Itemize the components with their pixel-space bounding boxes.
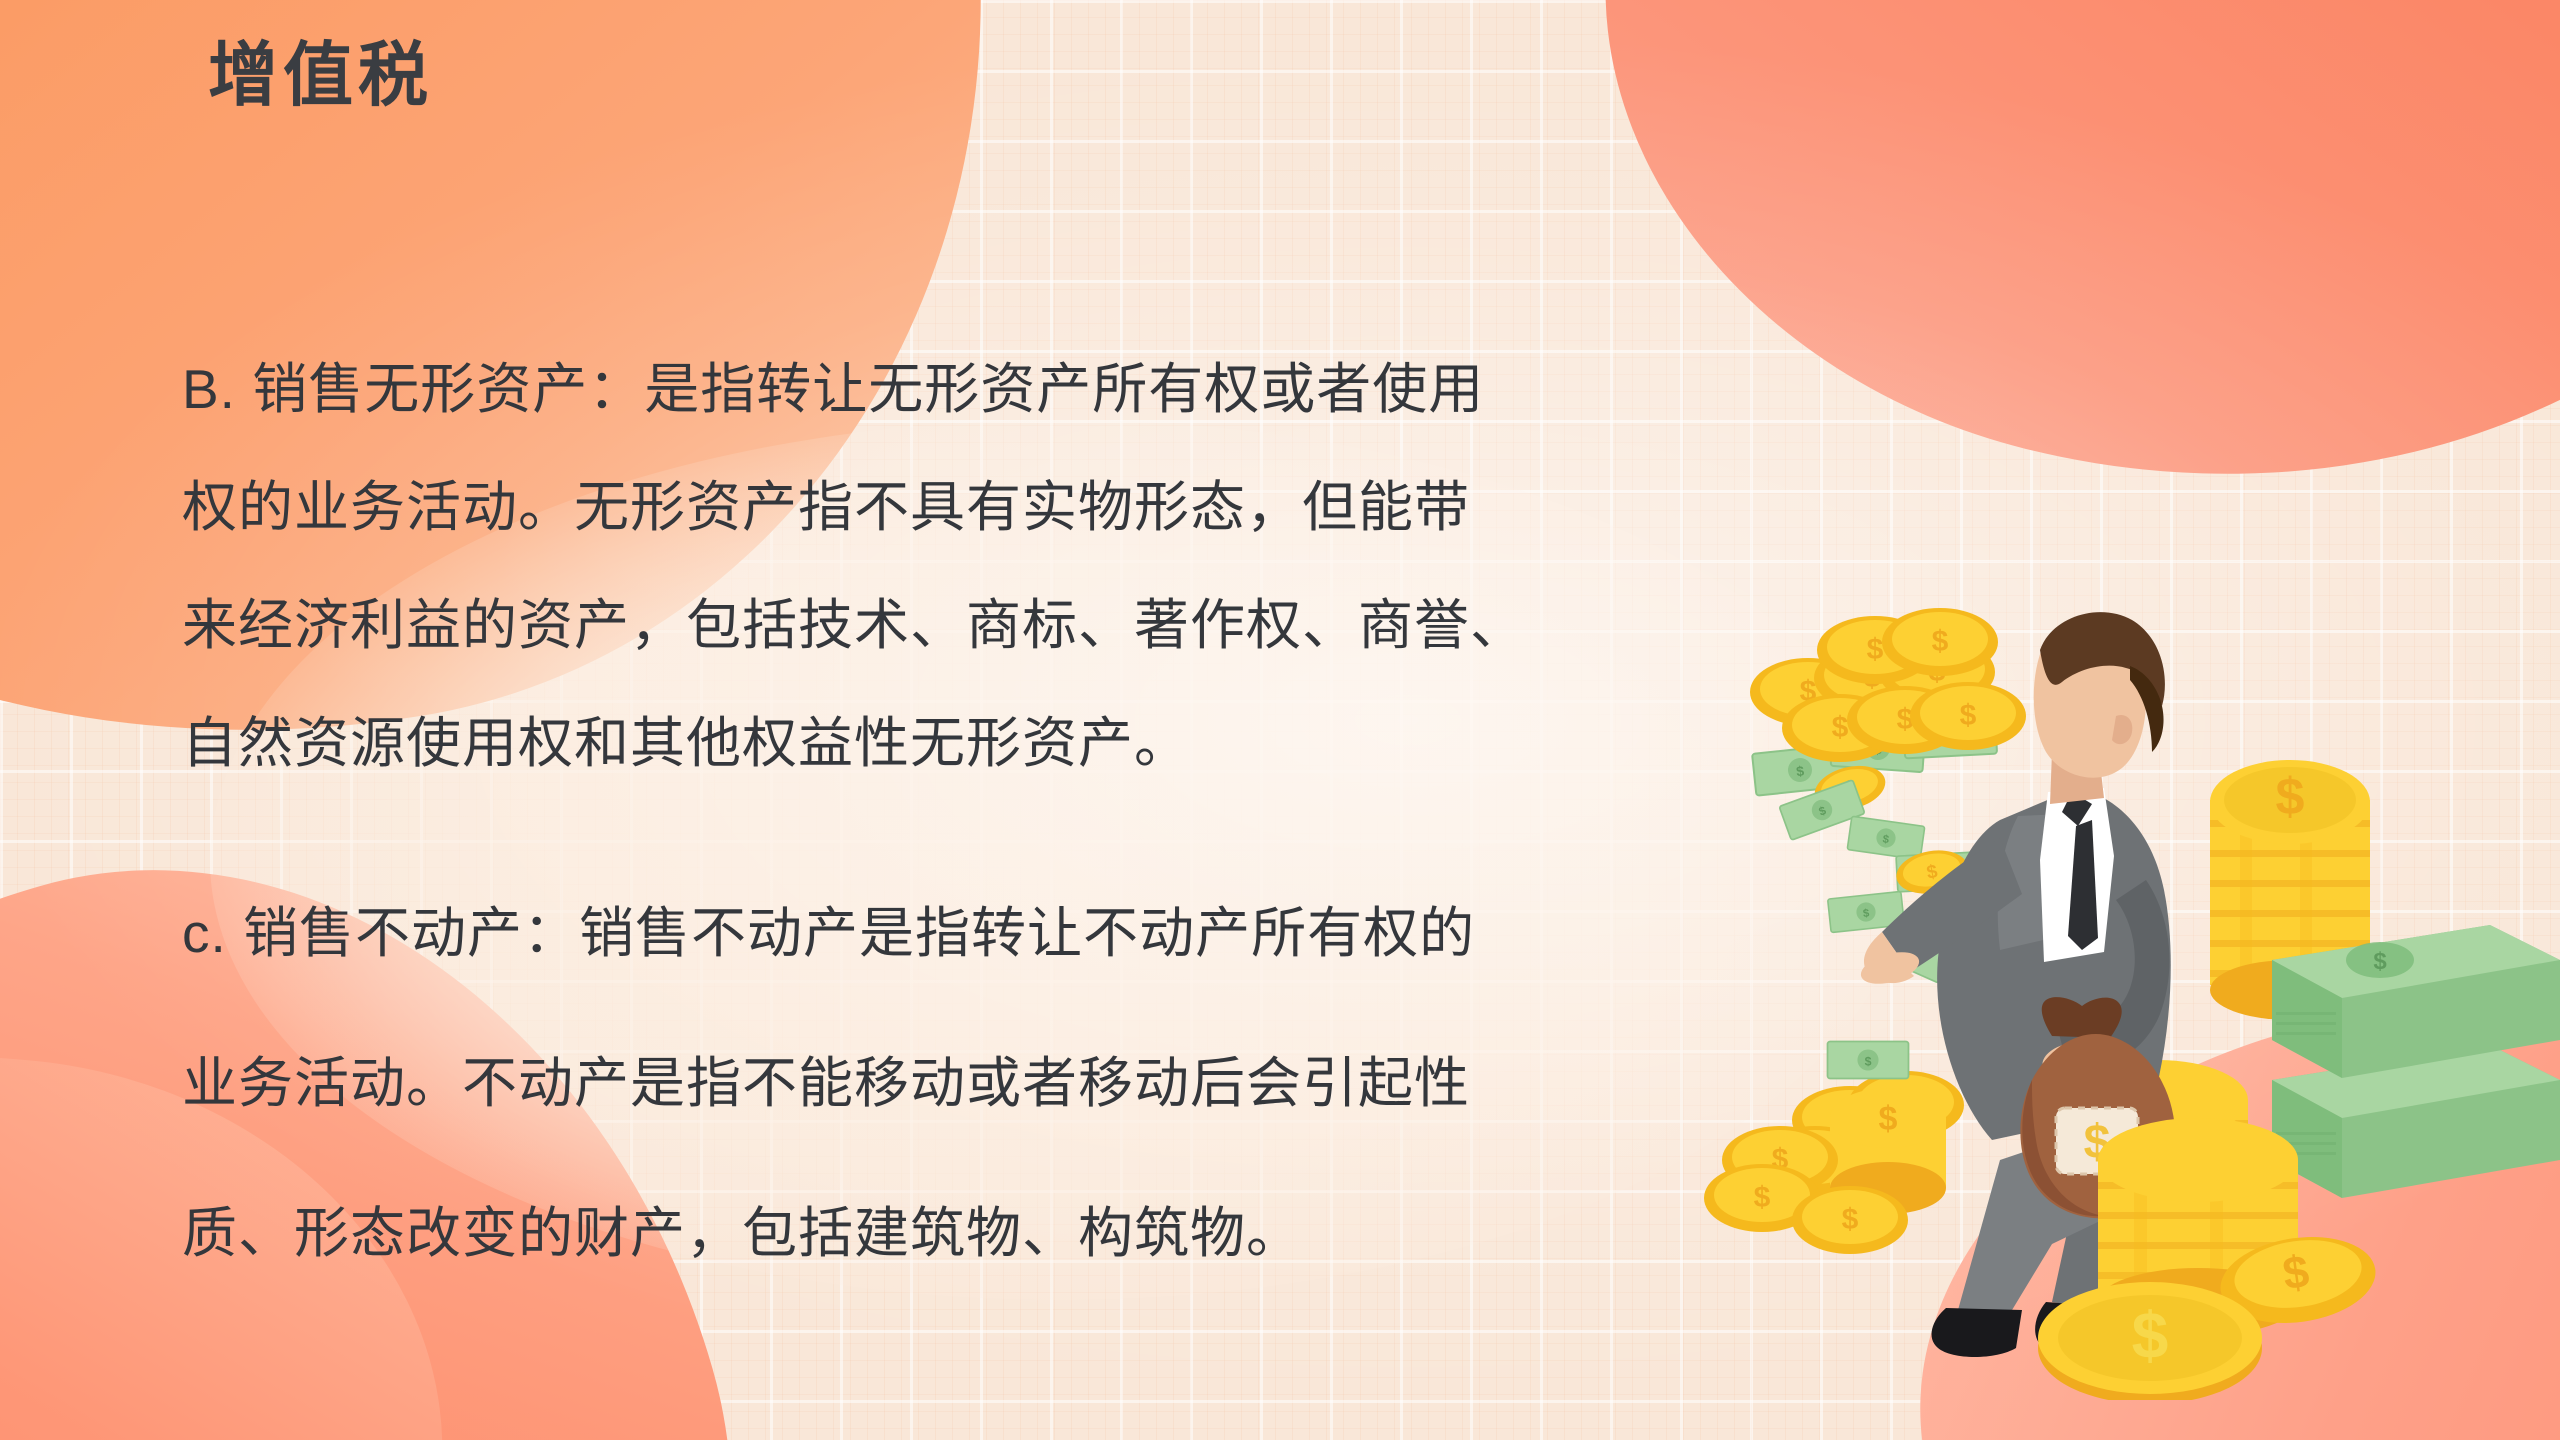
svg-text:$: $: [2373, 948, 2387, 975]
paragraph-b-line-3: 来经济利益的资产，包括技术、商标、著作权、商誉、: [182, 566, 1702, 684]
paragraph-b-line-1: B. 销售无形资产：是指转让无形资产所有权或者使用: [182, 330, 1702, 448]
body-text-block: B. 销售无形资产：是指转让无形资产所有权或者使用 权的业务活动。无形资产指不具…: [182, 330, 1702, 1324]
businessman-money-illustration: $ $ $: [1700, 520, 2560, 1400]
paragraph-c-line-2: 业务活动。不动产是指不能移动或者移动后会引起性: [182, 1008, 1702, 1158]
page-title: 增值税: [208, 34, 433, 117]
paragraph-b-line-4: 自然资源使用权和其他权益性无形资产。: [182, 684, 1702, 802]
coin-pile-left: $: [1704, 1042, 1964, 1254]
paragraph-b: B. 销售无形资产：是指转让无形资产所有权或者使用 权的业务活动。无形资产指不具…: [182, 330, 1702, 802]
paragraph-c: c. 销售不动产：销售不动产是指转让不动产所有权的 业务活动。不动产是指不能移动…: [182, 858, 1702, 1308]
paragraph-c-line-1: c. 销售不动产：销售不动产是指转让不动产所有权的: [182, 858, 1702, 1008]
svg-text:$: $: [2276, 768, 2305, 826]
svg-text:$: $: [2132, 1298, 2169, 1372]
svg-text:$: $: [1879, 1100, 1898, 1138]
slide-root: 增值税 B. 销售无形资产：是指转让无形资产所有权或者使用 权的业务活动。无形资…: [0, 0, 2560, 1440]
flying-coins-cluster: [1750, 608, 2026, 796]
paragraph-c-line-3: 质、形态改变的财产，包括建筑物、构筑物。: [182, 1158, 1702, 1308]
foreground-coin: $: [2038, 1282, 2262, 1400]
paragraph-b-line-2: 权的业务活动。无形资产指不具有实物形态，但能带: [182, 448, 1702, 566]
cash-bundle-stacks: $: [2272, 925, 2560, 1198]
